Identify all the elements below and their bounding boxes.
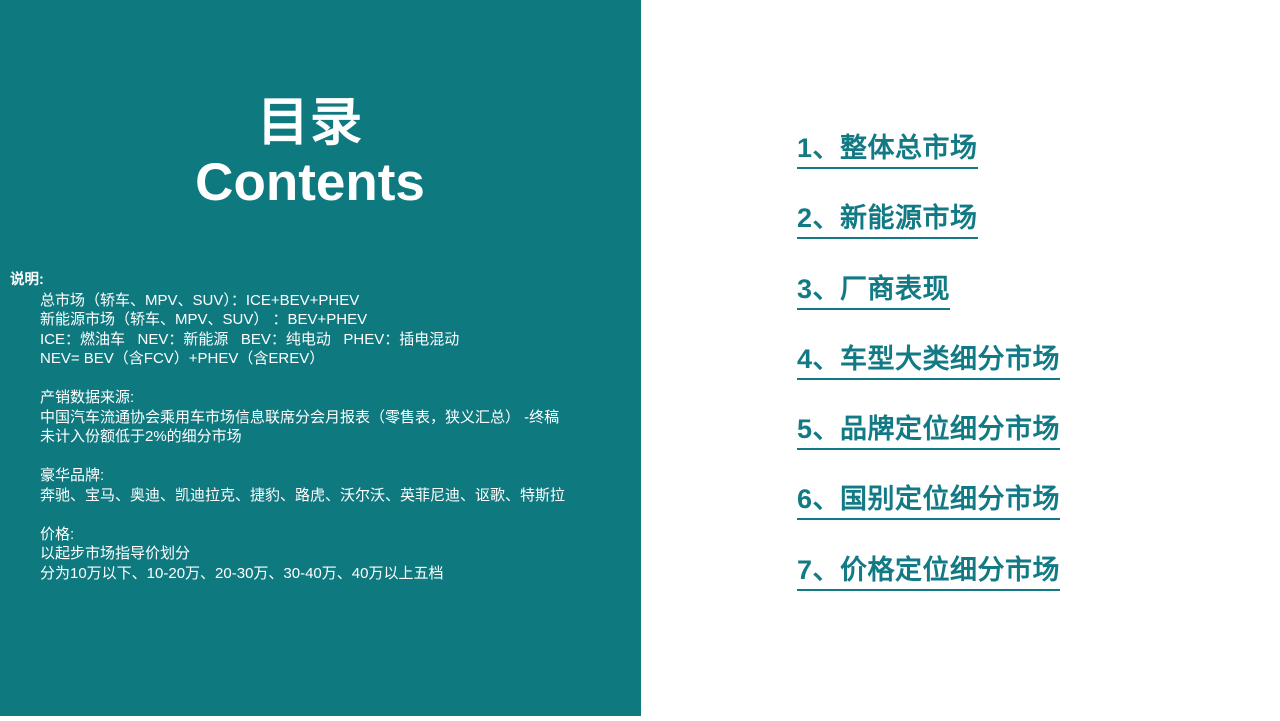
toc-item-1-label[interactable]: 1、整体总市场 <box>797 131 978 169</box>
note-line-nev-market: 新能源市场（轿车、MPV、SUV） ：BEV+PHEV <box>10 310 630 330</box>
toc-item-6[interactable]: 6、国别定位细分市场 <box>797 482 1237 552</box>
toc-item-7[interactable]: 7、价格定位细分市场 <box>797 553 1237 623</box>
note-group-luxury-brands: 豪华品牌: 奔驰、宝马、奥迪、凯迪拉克、捷豹、路虎、沃尔沃、英菲尼迪、讴歌、特斯… <box>10 466 630 505</box>
notes-spacer-1 <box>10 369 630 389</box>
toc-item-5[interactable]: 5、品牌定位细分市场 <box>797 412 1237 482</box>
notes-spacer-2 <box>10 447 630 467</box>
note-heading-data-source: 产销数据来源: <box>10 388 630 408</box>
note-line-abbreviations: ICE：燃油车 NEV：新能源 BEV：纯电动 PHEV：插电混动 <box>10 330 630 350</box>
toc-item-4-label[interactable]: 4、车型大类细分市场 <box>797 342 1060 380</box>
note-heading-price: 价格: <box>10 525 630 545</box>
toc-item-3[interactable]: 3、厂商表现 <box>797 272 1237 342</box>
toc-item-3-label[interactable]: 3、厂商表现 <box>797 272 950 310</box>
note-heading-definitions: 说明: <box>10 271 630 291</box>
note-line-source-report: 中国汽车流通协会乘用车市场信息联席分会月报表（零售表，狭义汇总） -终稿 <box>10 408 630 428</box>
notes-spacer-3 <box>10 505 630 525</box>
title-block: 目录 Contents <box>0 92 620 212</box>
note-line-source-exclusion: 未计入份额低于2%的细分市场 <box>10 427 630 447</box>
toc-item-7-label[interactable]: 7、价格定位细分市场 <box>797 553 1060 591</box>
note-group-definitions: 说明: 总市场（轿车、MPV、SUV）：ICE+BEV+PHEV 新能源市场（轿… <box>10 271 630 369</box>
note-heading-luxury-brands: 豪华品牌: <box>10 466 630 486</box>
note-line-luxury-brand-list: 奔驰、宝马、奥迪、凯迪拉克、捷豹、路虎、沃尔沃、英菲尼迪、讴歌、特斯拉 <box>10 486 630 506</box>
left-teal-panel: 目录 Contents 说明: 总市场（轿车、MPV、SUV）：ICE+BEV+… <box>0 0 641 716</box>
note-group-data-source: 产销数据来源: 中国汽车流通协会乘用车市场信息联席分会月报表（零售表，狭义汇总）… <box>10 388 630 447</box>
note-group-price: 价格: 以起步市场指导价划分 分为10万以下、10-20万、20-30万、30-… <box>10 525 630 584</box>
notes-block: 说明: 总市场（轿车、MPV、SUV）：ICE+BEV+PHEV 新能源市场（轿… <box>10 271 630 583</box>
toc-item-2-label[interactable]: 2、新能源市场 <box>797 201 978 239</box>
table-of-contents: 1、整体总市场 2、新能源市场 3、厂商表现 4、车型大类细分市场 5、品牌定位… <box>797 131 1237 623</box>
slide-canvas: 目录 Contents 说明: 总市场（轿车、MPV、SUV）：ICE+BEV+… <box>0 0 1280 721</box>
note-line-nev-formula: NEV= BEV（含FCV）+PHEV（含EREV） <box>10 349 630 369</box>
note-line-price-basis: 以起步市场指导价划分 <box>10 544 630 564</box>
page-title-cn: 目录 <box>0 92 620 154</box>
note-line-price-tiers: 分为10万以下、10-20万、20-30万、30-40万、40万以上五档 <box>10 564 630 584</box>
note-line-total-market: 总市场（轿车、MPV、SUV）：ICE+BEV+PHEV <box>10 291 630 311</box>
toc-item-1[interactable]: 1、整体总市场 <box>797 131 1237 201</box>
toc-item-4[interactable]: 4、车型大类细分市场 <box>797 342 1237 412</box>
toc-item-5-label[interactable]: 5、品牌定位细分市场 <box>797 412 1060 450</box>
toc-item-6-label[interactable]: 6、国别定位细分市场 <box>797 482 1060 520</box>
toc-item-2[interactable]: 2、新能源市场 <box>797 201 1237 271</box>
page-title-en: Contents <box>0 154 620 212</box>
